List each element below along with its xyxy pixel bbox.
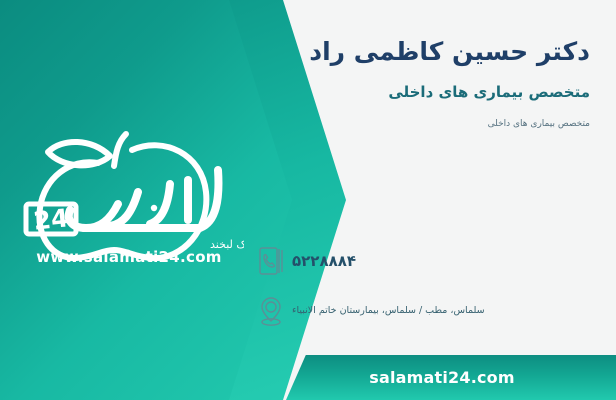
doctor-info-block: دکتر حسین کاظمی راد متخصص بیماری های داخ…: [260, 36, 590, 130]
contact-info-block: ۵۲۲۸۸۸۴ سلماس، مطب / سلماس، بیمارستان خا…: [244, 244, 594, 344]
doctor-name: دکتر حسین کاظمی راد: [260, 36, 590, 67]
svg-text:24: 24: [32, 203, 70, 235]
brand-logo: 24 به راحتی یک لبخند www.salamati24.com: [14, 108, 244, 273]
logo-script-salamati: [69, 170, 219, 228]
logo-script-dots: [151, 205, 167, 211]
phone-number: ۵۲۲۸۸۸۴: [288, 252, 594, 270]
doctor-profile-card: 24 به راحتی یک لبخند www.salamati24.com …: [0, 0, 616, 400]
logo-website-url: www.salamati24.com: [14, 248, 244, 266]
footer-website: salamati24.com: [369, 368, 533, 387]
footer-bar[interactable]: salamati24.com: [286, 355, 616, 400]
map-pin-icon: [254, 294, 288, 328]
phone-book-icon: [254, 244, 288, 278]
phone-row[interactable]: ۵۲۲۸۸۸۴: [244, 244, 594, 278]
doctor-specialty-secondary: متخصص بیماری های داخلی: [260, 119, 590, 131]
doctor-specialty: متخصص بیماری های داخلی: [260, 83, 590, 103]
address-row[interactable]: سلماس، مطب / سلماس، بیمارستان خاتم الانب…: [244, 294, 594, 328]
clinic-address: سلماس، مطب / سلماس، بیمارستان خاتم الانب…: [288, 304, 594, 317]
